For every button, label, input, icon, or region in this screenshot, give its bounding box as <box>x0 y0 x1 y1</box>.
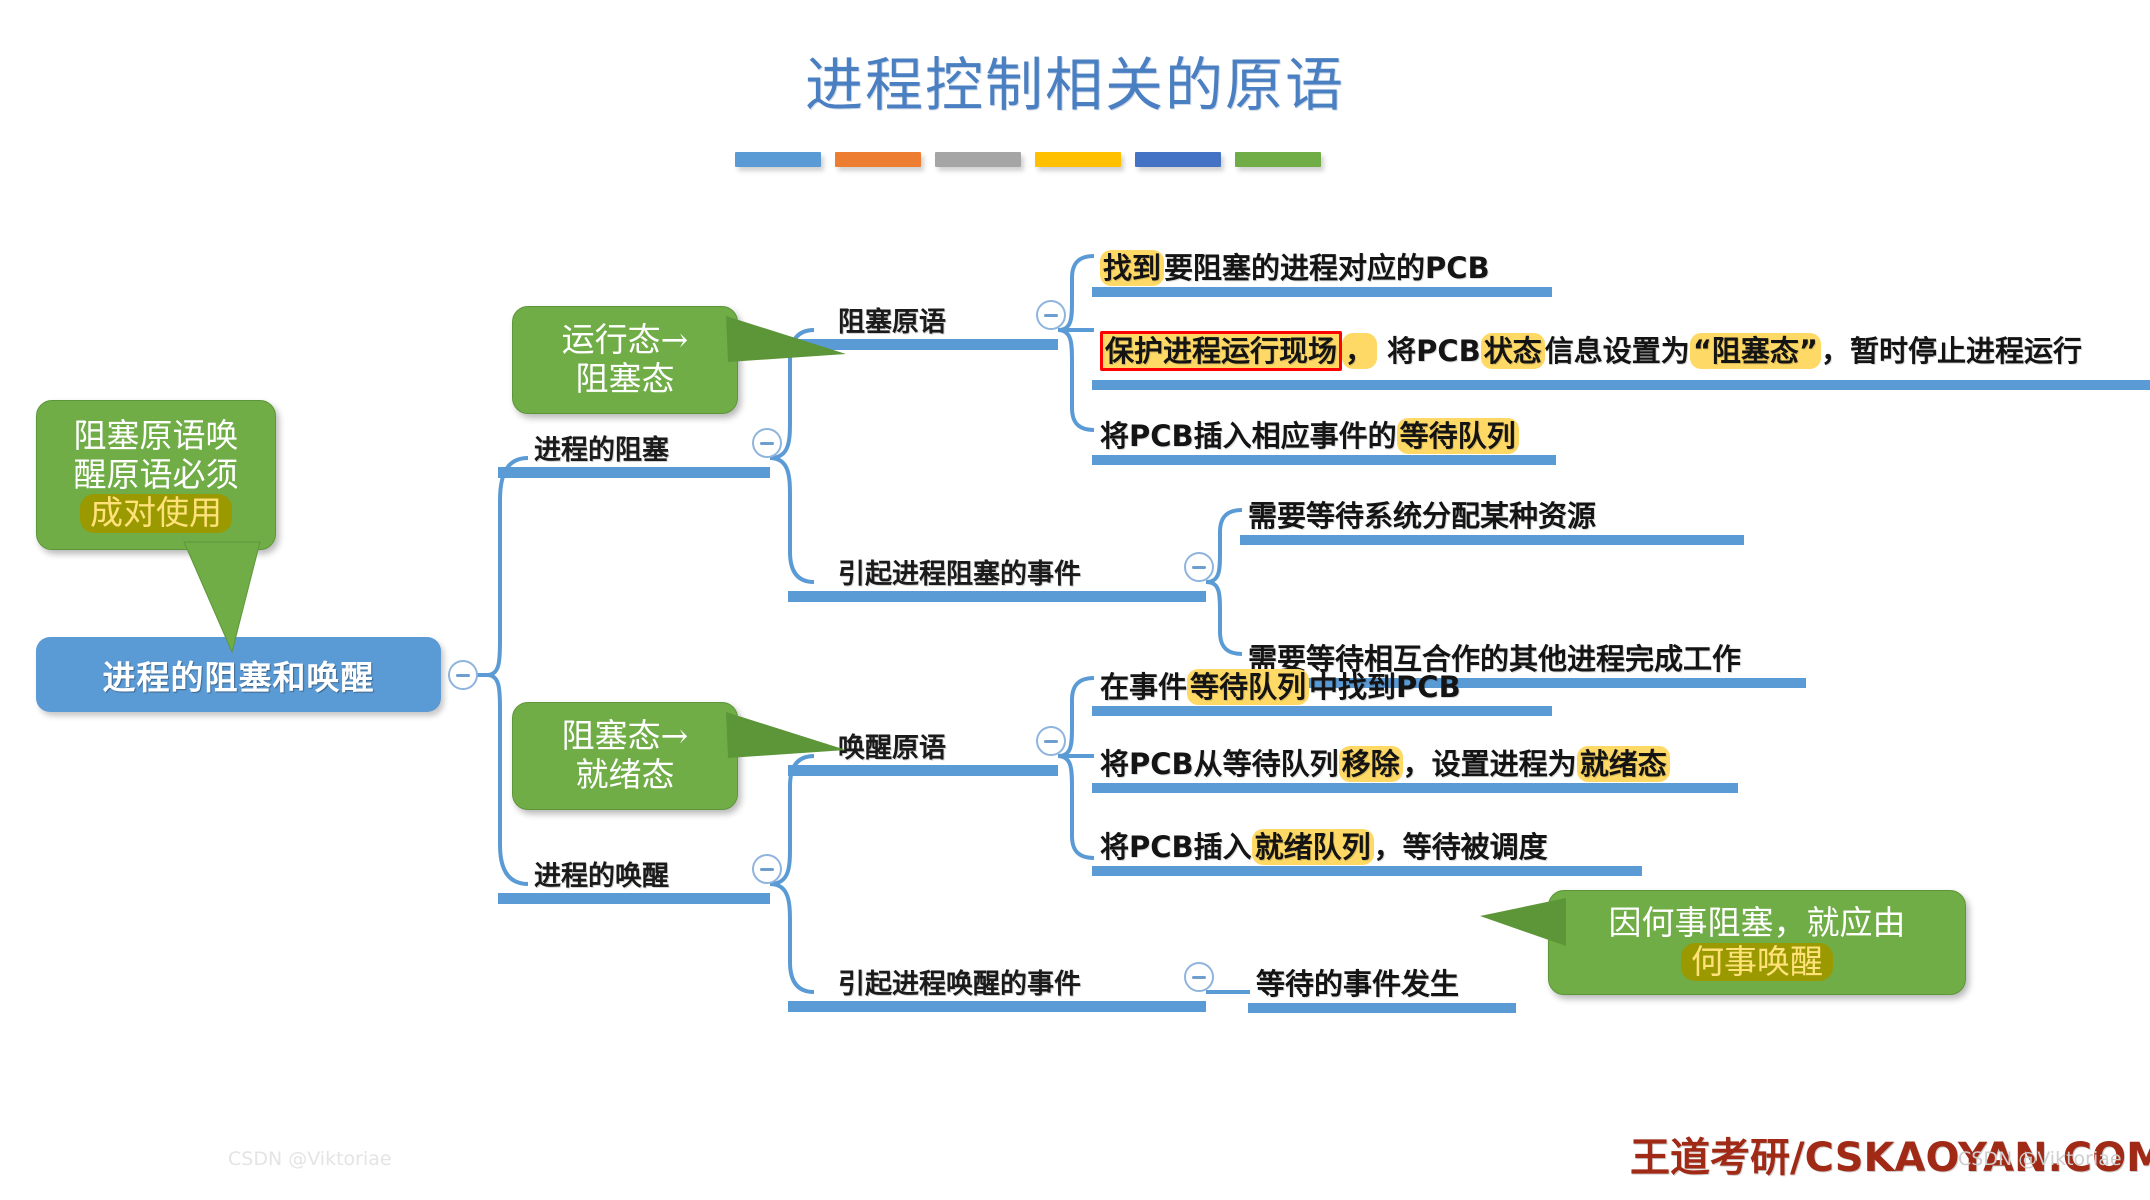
callout-running-to-blocked-line-1: 运行态→ <box>562 321 689 360</box>
branch-label-process-blocking[interactable]: 进程的阻塞 <box>534 428 669 467</box>
callout-pair-usage-tail <box>150 540 280 660</box>
branch-toggle-process-blocking[interactable] <box>752 428 782 458</box>
leaf-insert-ready-queue[interactable]: 将PCB插入就绪队列，等待被调度 <box>1100 824 1548 866</box>
plain-text: 要阻塞的进程对应的PCB <box>1164 251 1490 285</box>
branch-label-process-waking[interactable]: 进程的唤醒 <box>534 854 669 893</box>
node-label-block-events[interactable]: 引起进程阻塞的事件 <box>838 552 1081 591</box>
callout-cause-wake: 因何事阻塞，就应由 何事唤醒 <box>1548 890 1966 995</box>
highlight-text: 找到 <box>1100 250 1164 286</box>
highlight-text: 等待队列 <box>1187 669 1309 705</box>
node-label-block-primitive[interactable]: 阻塞原语 <box>838 300 946 339</box>
plain-text: 需要等待系统分配某种资源 <box>1248 499 1596 533</box>
node-toggle-block-primitive[interactable] <box>1036 300 1066 330</box>
callout-blocked-to-ready-line-1: 阻塞态→ <box>562 717 689 756</box>
branch-toggle-process-waking[interactable] <box>752 854 782 884</box>
callout-pair-usage-line-1: 阻塞原语唤 <box>74 417 239 456</box>
callout-running-to-blocked-tail <box>726 310 851 390</box>
callout-blocked-to-ready: 阻塞态→ 就绪态 <box>512 702 738 810</box>
callout-pair-usage-line-2: 醒原语必须 <box>74 456 239 495</box>
callout-cause-wake-line-2: 何事唤醒 <box>1681 943 1833 982</box>
callout-blocked-to-ready-tail <box>726 706 851 786</box>
plain-text: 将PCB <box>1377 334 1481 368</box>
highlight-text: 状态 <box>1481 333 1545 369</box>
leaf-remove-from-queue[interactable]: 将PCB从等待队列移除，设置进程为就绪态 <box>1100 741 1670 783</box>
callout-blocked-to-ready-line-2: 就绪态 <box>576 756 675 795</box>
highlight-boxed-text: 保护进程运行现场 <box>1100 331 1342 371</box>
node-label-wake-primitive[interactable]: 唤醒原语 <box>838 726 946 765</box>
plain-text: ，设置进程为 <box>1403 747 1577 781</box>
highlight-text: 等待队列 <box>1397 418 1519 454</box>
node-label-wake-events[interactable]: 引起进程唤醒的事件 <box>838 962 1081 1001</box>
leaf-find-pcb-in-queue[interactable]: 在事件等待队列中找到PCB <box>1100 664 1461 706</box>
callout-cause-wake-tail <box>1480 898 1570 968</box>
leaf-event-occurs[interactable]: 等待的事件发生 <box>1256 961 1459 1003</box>
highlight-text: 就绪队列 <box>1252 829 1374 865</box>
node-toggle-wake-events[interactable] <box>1184 962 1214 992</box>
highlight-text: ， <box>1342 333 1377 369</box>
leaf-find-pcb[interactable]: 找到要阻塞的进程对应的PCB <box>1100 245 1490 287</box>
callout-cause-wake-line-1: 因何事阻塞，就应由 <box>1609 904 1906 943</box>
plain-text: 中找到PCB <box>1309 670 1461 704</box>
plain-text: 将PCB插入相应事件的 <box>1100 419 1397 453</box>
highlight-text: 就绪态 <box>1577 746 1670 782</box>
plain-text: 信息设置为 <box>1545 334 1690 368</box>
plain-text: 等待的事件发生 <box>1256 967 1459 1001</box>
plain-text: 将PCB从等待队列 <box>1100 747 1339 781</box>
callout-running-to-blocked-line-2: 阻塞态 <box>576 360 675 399</box>
callout-pair-usage-line-3: 成对使用 <box>80 494 232 533</box>
plain-text: 将PCB插入 <box>1100 830 1252 864</box>
leaf-insert-wait-queue[interactable]: 将PCB插入相应事件的等待队列 <box>1100 413 1519 455</box>
callout-running-to-blocked: 运行态→ 阻塞态 <box>512 306 738 414</box>
node-toggle-block-events[interactable] <box>1184 552 1214 582</box>
watermark-left: CSDN @Viktoriae <box>228 1148 392 1170</box>
root-collapse-toggle[interactable] <box>448 660 478 690</box>
mindmap-slide: 进程控制相关的原语 <box>0 0 2150 1200</box>
highlight-text: 移除 <box>1339 746 1403 782</box>
plain-text: 在事件 <box>1100 670 1187 704</box>
highlight-text: “阻塞态” <box>1690 333 1821 369</box>
mindmap-connectors <box>0 0 2150 1200</box>
plain-text: ，等待被调度 <box>1374 830 1548 864</box>
watermark-right: CSDN @Viktoriae <box>1958 1148 2122 1170</box>
node-toggle-wake-primitive[interactable] <box>1036 726 1066 756</box>
leaf-protect-context[interactable]: 保护进程运行现场， 将PCB状态信息设置为“阻塞态”，暂时停止进程运行 <box>1100 328 2082 370</box>
plain-text: ，暂时停止进程运行 <box>1821 334 2082 368</box>
leaf-wait-resource[interactable]: 需要等待系统分配某种资源 <box>1248 493 1596 535</box>
callout-pair-usage: 阻塞原语唤 醒原语必须 成对使用 <box>36 400 276 550</box>
